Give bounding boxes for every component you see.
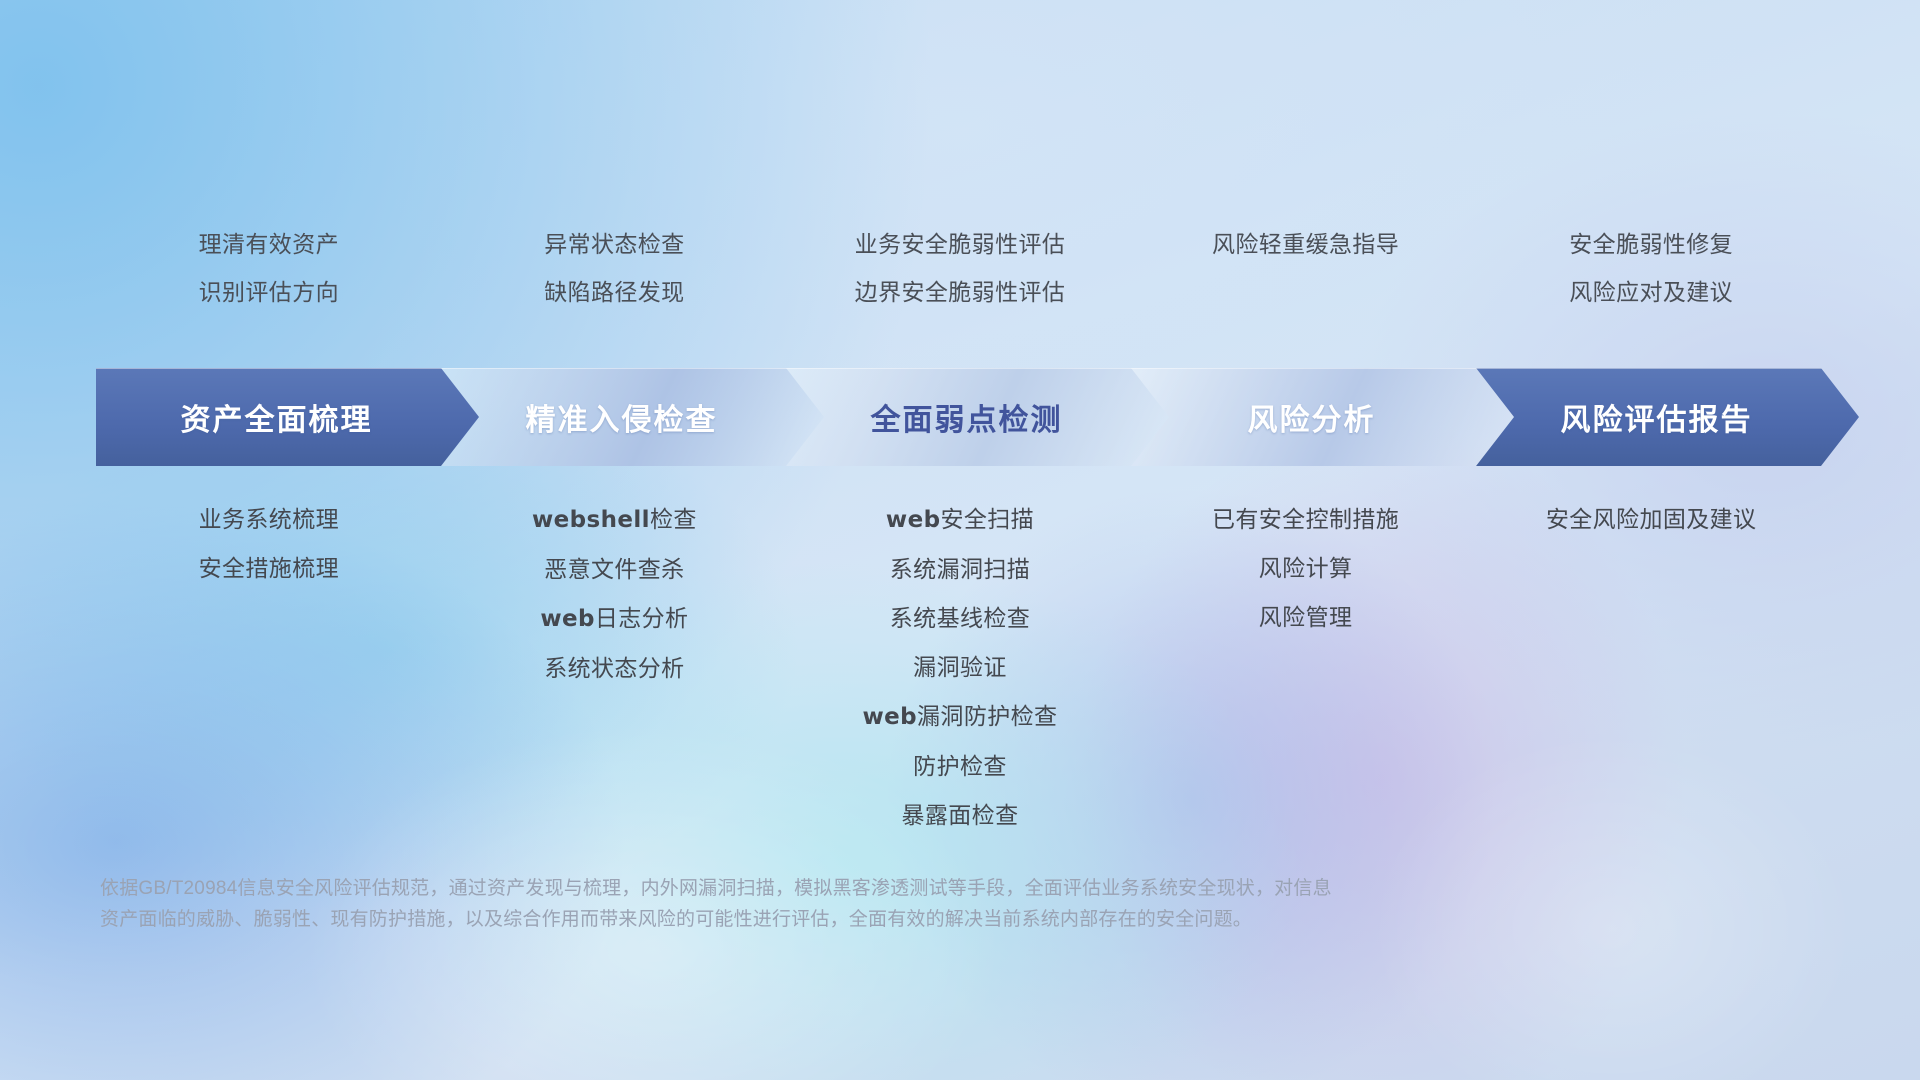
stage-title: 资产全面梳理 — [181, 395, 395, 439]
top-label-item: 识别评估方向 — [96, 281, 442, 304]
bottom-label-item: 已有安全控制措施 — [1133, 508, 1479, 531]
risk-assessment-process-diagram: 理清有效资产识别评估方向 异常状态检查缺陷路径发现 业务安全脆弱性评估边界安全脆… — [0, 0, 1920, 1080]
footer-line-2: 资产面临的威胁、脆弱性、现有防护措施，以及综合作用而带来风险的可能性进行评估，全… — [100, 904, 1630, 935]
bottom-labels-stage-2: webshell检查恶意文件查杀web日志分析系统状态分析 — [442, 508, 788, 706]
stage-title: 风险分析 — [1248, 395, 1398, 439]
process-stage-5[interactable]: 风险评估报告 — [1476, 368, 1859, 466]
bottom-label-item: 暴露面检查 — [787, 804, 1133, 827]
top-label-item: 理清有效资产 — [96, 233, 442, 256]
label-bold-prefix: web — [886, 507, 941, 533]
stage-title: 风险评估报告 — [1561, 395, 1775, 439]
bottom-label-item: 系统基线检查 — [787, 607, 1133, 630]
label-bold-prefix: webshell — [532, 507, 650, 533]
bottom-label-item: web安全扫描 — [787, 508, 1133, 532]
label-bold-prefix: web — [540, 606, 595, 632]
bottom-label-item: 安全风险加固及建议 — [1478, 508, 1824, 531]
bottom-label-item: 防护检查 — [787, 755, 1133, 778]
process-stage-4[interactable]: 风险分析 — [1131, 368, 1514, 466]
bottom-label-item: 系统状态分析 — [442, 657, 788, 680]
stage-title: 全面弱点检测 — [871, 395, 1085, 439]
bottom-label-item: 恶意文件查杀 — [442, 558, 788, 581]
bottom-label-item: web日志分析 — [442, 607, 788, 631]
label-bold-prefix: web — [863, 704, 918, 730]
footer-description: 依据GB/T20984信息安全风险评估规范，通过资产发现与梳理，内外网漏洞扫描，… — [100, 873, 1630, 935]
bottom-labels-stage-1: 业务系统梳理安全措施梳理 — [96, 508, 442, 606]
top-label-item: 安全脆弱性修复 — [1478, 233, 1824, 256]
bottom-label-item: 风险管理 — [1133, 606, 1479, 629]
top-label-item: 异常状态检查 — [442, 233, 788, 256]
top-label-item: 风险应对及建议 — [1478, 281, 1824, 304]
bottom-labels-stage-4: 已有安全控制措施风险计算风险管理 — [1133, 508, 1479, 655]
top-labels-stage-3: 业务安全脆弱性评估边界安全脆弱性评估 — [787, 233, 1133, 329]
bottom-label-item: 安全措施梳理 — [96, 557, 442, 580]
footer-line-1: 依据GB/T20984信息安全风险评估规范，通过资产发现与梳理，内外网漏洞扫描，… — [100, 873, 1630, 904]
top-label-item: 业务安全脆弱性评估 — [787, 233, 1133, 256]
process-stage-3[interactable]: 全面弱点检测 — [786, 368, 1169, 466]
top-label-item: 边界安全脆弱性评估 — [787, 281, 1133, 304]
bottom-labels-row: 业务系统梳理安全措施梳理 webshell检查恶意文件查杀web日志分析系统状态… — [96, 508, 1824, 853]
top-labels-stage-1: 理清有效资产识别评估方向 — [96, 233, 442, 329]
bottom-labels-stage-5: 安全风险加固及建议 — [1478, 508, 1824, 557]
bottom-label-item: web漏洞防护检查 — [787, 705, 1133, 729]
process-stage-2[interactable]: 精准入侵检查 — [441, 368, 824, 466]
top-labels-stage-5: 安全脆弱性修复风险应对及建议 — [1478, 233, 1824, 329]
top-label-item: 缺陷路径发现 — [442, 281, 788, 304]
top-labels-row: 理清有效资产识别评估方向 异常状态检查缺陷路径发现 业务安全脆弱性评估边界安全脆… — [96, 233, 1824, 329]
stage-title: 精准入侵检查 — [526, 395, 740, 439]
bottom-label-item: 风险计算 — [1133, 557, 1479, 580]
bottom-label-item: webshell检查 — [442, 508, 788, 532]
top-labels-stage-4: 风险轻重缓急指导 — [1133, 233, 1479, 281]
process-chevron-band: 资产全面梳理精准入侵检查全面弱点检测风险分析风险评估报告 — [96, 368, 1854, 466]
bottom-label-item: 漏洞验证 — [787, 656, 1133, 679]
top-labels-stage-2: 异常状态检查缺陷路径发现 — [442, 233, 788, 329]
bottom-label-item: 业务系统梳理 — [96, 508, 442, 531]
top-label-item: 风险轻重缓急指导 — [1133, 233, 1479, 256]
bottom-label-item: 系统漏洞扫描 — [787, 558, 1133, 581]
process-stage-1[interactable]: 资产全面梳理 — [96, 368, 479, 466]
bottom-labels-stage-3: web安全扫描系统漏洞扫描系统基线检查漏洞验证web漏洞防护检查防护检查暴露面检… — [787, 508, 1133, 853]
